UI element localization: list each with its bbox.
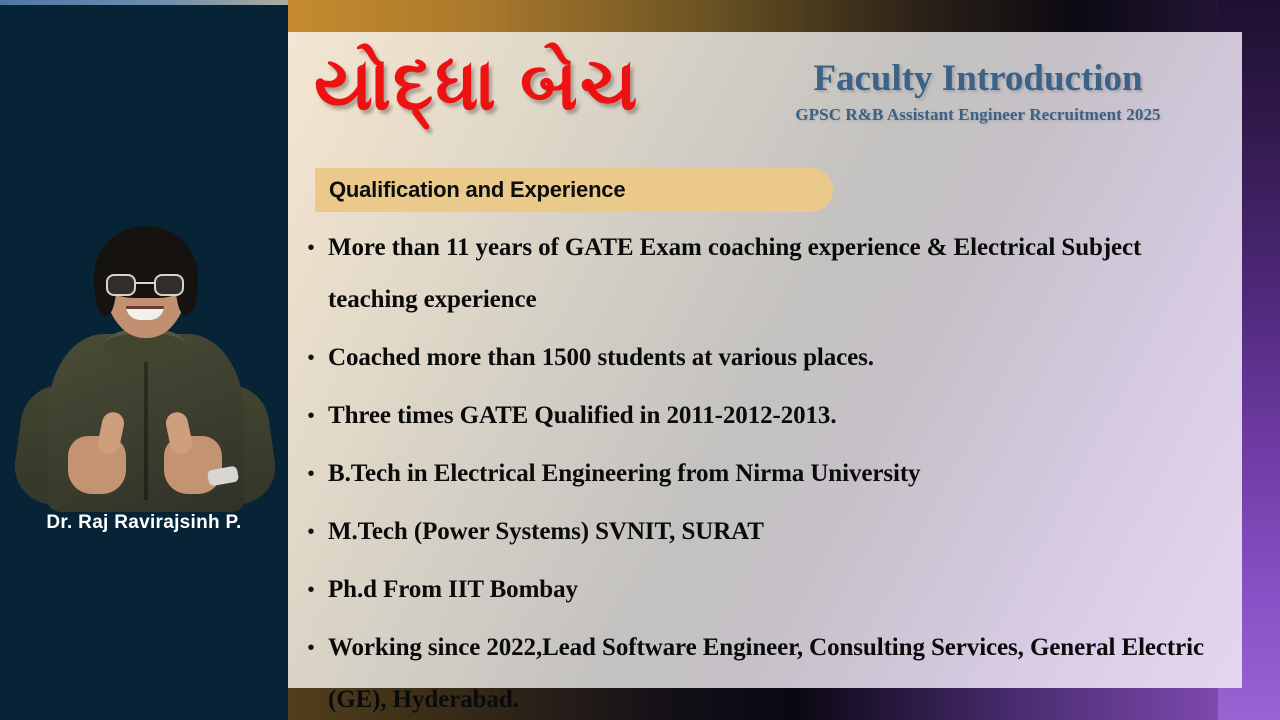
list-item: •M.Tech (Power Systems) SVNIT, SURAT (294, 506, 1234, 558)
list-item-text: B.Tech in Electrical Engineering from Ni… (328, 448, 1234, 500)
list-item: •B.Tech in Electrical Engineering from N… (294, 448, 1234, 500)
bullet-dot-icon: • (294, 506, 328, 558)
section-banner: Qualification and Experience (315, 168, 833, 212)
header-block: Faculty Introduction GPSC R&B Assistant … (743, 60, 1213, 125)
page-title: Faculty Introduction (743, 60, 1213, 99)
list-item: •Coached more than 1500 students at vari… (294, 332, 1234, 384)
list-item-text: Three times GATE Qualified in 2011-2012-… (328, 390, 1234, 442)
list-item-text: Coached more than 1500 students at vario… (328, 332, 1234, 384)
list-item: •More than 11 years of GATE Exam coachin… (294, 222, 1234, 326)
faculty-photo (12, 208, 276, 508)
list-item: •Three times GATE Qualified in 2011-2012… (294, 390, 1234, 442)
speaker-panel: Dr. Raj Ravirajsinh P. (0, 0, 288, 720)
bullet-dot-icon: • (294, 332, 328, 384)
photo-eyeglass-bridge (136, 282, 154, 284)
bullet-dot-icon: • (294, 222, 328, 274)
presentation-slide: Dr. Raj Ravirajsinh P. યોદ્ધા બેચ Facult… (0, 0, 1280, 720)
bullet-dot-icon: • (294, 448, 328, 500)
photo-eyeglass-right (154, 274, 184, 296)
list-item-text: M.Tech (Power Systems) SVNIT, SURAT (328, 506, 1234, 558)
bullet-dot-icon: • (294, 622, 328, 674)
speaker-name-label: Dr. Raj Ravirajsinh P. (0, 512, 288, 534)
photo-eyeglass-left (106, 274, 136, 296)
content-card: યોદ્ધા બેચ Faculty Introduction GPSC R&B… (288, 32, 1242, 688)
bullet-dot-icon: • (294, 564, 328, 616)
panel-top-sliver (0, 0, 288, 5)
bullet-list: •More than 11 years of GATE Exam coachin… (294, 222, 1234, 720)
list-item: •Ph.d From IIT Bombay (294, 564, 1234, 616)
bullet-dot-icon: • (294, 390, 328, 442)
list-item: •Working since 2022,Lead Software Engine… (294, 622, 1234, 720)
list-item-text: Ph.d From IIT Bombay (328, 564, 1234, 616)
list-item-text: More than 11 years of GATE Exam coaching… (328, 222, 1234, 326)
title-row: યોદ્ધા બેચ Faculty Introduction GPSC R&B… (288, 32, 1242, 168)
brand-title: યોદ્ધા બેચ (314, 48, 639, 124)
page-subtitle: GPSC R&B Assistant Engineer Recruitment … (743, 105, 1213, 125)
list-item-text: Working since 2022,Lead Software Enginee… (328, 622, 1234, 720)
section-banner-label: Qualification and Experience (315, 177, 625, 203)
